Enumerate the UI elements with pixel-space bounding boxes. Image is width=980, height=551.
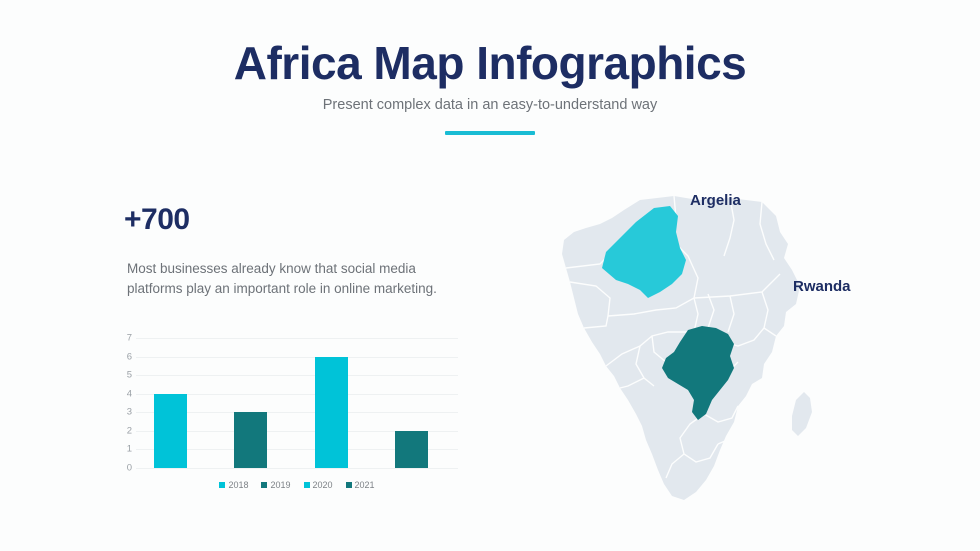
page-subtitle: Present complex data in an easy-to-under…: [0, 97, 980, 113]
chart-bar: [234, 412, 267, 468]
chart-legend-swatch: [346, 482, 352, 488]
page-title: Africa Map Infographics: [0, 38, 980, 89]
chart-legend-label: 2021: [355, 480, 375, 490]
map-label-argelia: Argelia: [690, 192, 741, 209]
chart-y-tick-label: 3: [127, 407, 132, 418]
chart-legend-item: 2021: [346, 480, 375, 490]
chart-plot-area: [136, 338, 458, 468]
chart-y-tick-label: 4: [127, 388, 132, 399]
africa-map: [548, 186, 848, 531]
chart-legend-label: 2018: [228, 480, 248, 490]
chart-y-tick-label: 0: [127, 463, 132, 474]
chart-y-tick-label: 2: [127, 425, 132, 436]
map-country-border: [740, 404, 756, 426]
accent-divider: [445, 131, 535, 135]
chart-legend-item: 2019: [261, 480, 290, 490]
chart-legend-swatch: [261, 482, 267, 488]
africa-map-svg: [548, 186, 848, 531]
chart-y-tick-label: 1: [127, 444, 132, 455]
map-madagascar-shape: [792, 392, 812, 436]
chart-legend-swatch: [304, 482, 310, 488]
chart-y-axis: 01234567: [118, 338, 132, 468]
chart-bar: [395, 431, 428, 468]
slide-root: Africa Map Infographics Present complex …: [0, 0, 980, 551]
chart-legend-label: 2020: [313, 480, 333, 490]
chart-legend-label: 2019: [270, 480, 290, 490]
chart-y-tick-label: 6: [127, 351, 132, 362]
chart-legend-item: 2018: [219, 480, 248, 490]
chart-y-tick-label: 7: [127, 333, 132, 344]
chart-bar: [315, 357, 348, 468]
chart-y-tick-label: 5: [127, 370, 132, 381]
stat-big-number: +700: [124, 205, 524, 235]
chart-legend: 2018201920202021: [136, 480, 458, 490]
stat-description: Most businesses already know that social…: [127, 259, 472, 298]
left-content-column: +700 Most businesses already know that s…: [124, 205, 524, 298]
chart-bars: [136, 338, 458, 468]
bar-chart: 01234567 2018201920202021: [118, 330, 468, 505]
chart-legend-swatch: [219, 482, 225, 488]
chart-gridline: [136, 468, 458, 469]
map-label-rwanda: Rwanda: [793, 278, 851, 295]
chart-bar: [154, 394, 187, 468]
chart-legend-item: 2020: [304, 480, 333, 490]
